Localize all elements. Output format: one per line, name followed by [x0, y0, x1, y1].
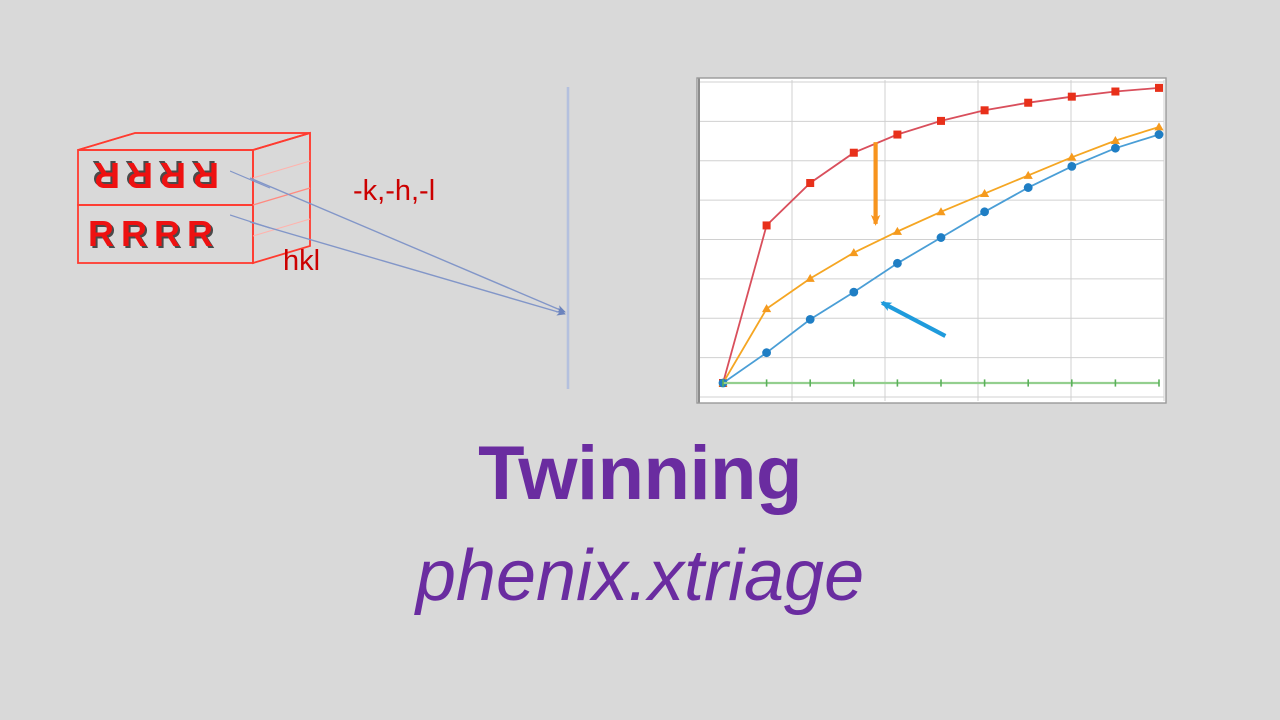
chart-data-point — [806, 315, 815, 324]
slide-canvas: RRRR RRRR -k,-h,-l hkl Twinning pheni — [0, 0, 1280, 720]
chart-data-point — [850, 149, 858, 157]
chart-data-point — [893, 259, 902, 268]
page-subtitle: phenix.xtriage — [0, 535, 1280, 617]
chart-data-point — [1024, 99, 1032, 107]
chart-data-point — [763, 221, 771, 229]
chart-data-point — [980, 207, 989, 216]
chart-data-point — [1155, 84, 1163, 92]
chart-data-point — [937, 233, 946, 242]
chart-data-point — [1111, 88, 1119, 96]
chart-data-point — [937, 117, 945, 125]
chart-svg — [690, 68, 1170, 408]
chart-data-point — [1155, 130, 1164, 139]
chart-data-point — [806, 179, 814, 187]
chart-data-point — [1068, 93, 1076, 101]
page-title: Twinning — [0, 430, 1280, 517]
diffraction-ray-stub-lower — [230, 215, 270, 228]
chart-data-point — [893, 131, 901, 139]
diffraction-ray-upper — [250, 178, 565, 312]
chart-data-point — [1067, 162, 1076, 171]
twin-domain-letters-normal: RRRR — [88, 213, 220, 255]
diffraction-ray-lower — [250, 222, 565, 314]
chart-data-point — [762, 348, 771, 357]
chart-data-point — [1024, 183, 1033, 192]
diffraction-ray-stub-upper — [230, 171, 270, 188]
chart-data-point — [849, 288, 858, 297]
cumulative-intensity-chart — [690, 68, 1170, 408]
chart-data-point — [981, 106, 989, 114]
diffraction-arrows-group — [230, 70, 590, 410]
diffraction-arrows-svg — [230, 70, 590, 410]
chart-data-point — [1111, 144, 1120, 153]
twin-domain-letters-flipped: RRRR — [87, 154, 219, 196]
